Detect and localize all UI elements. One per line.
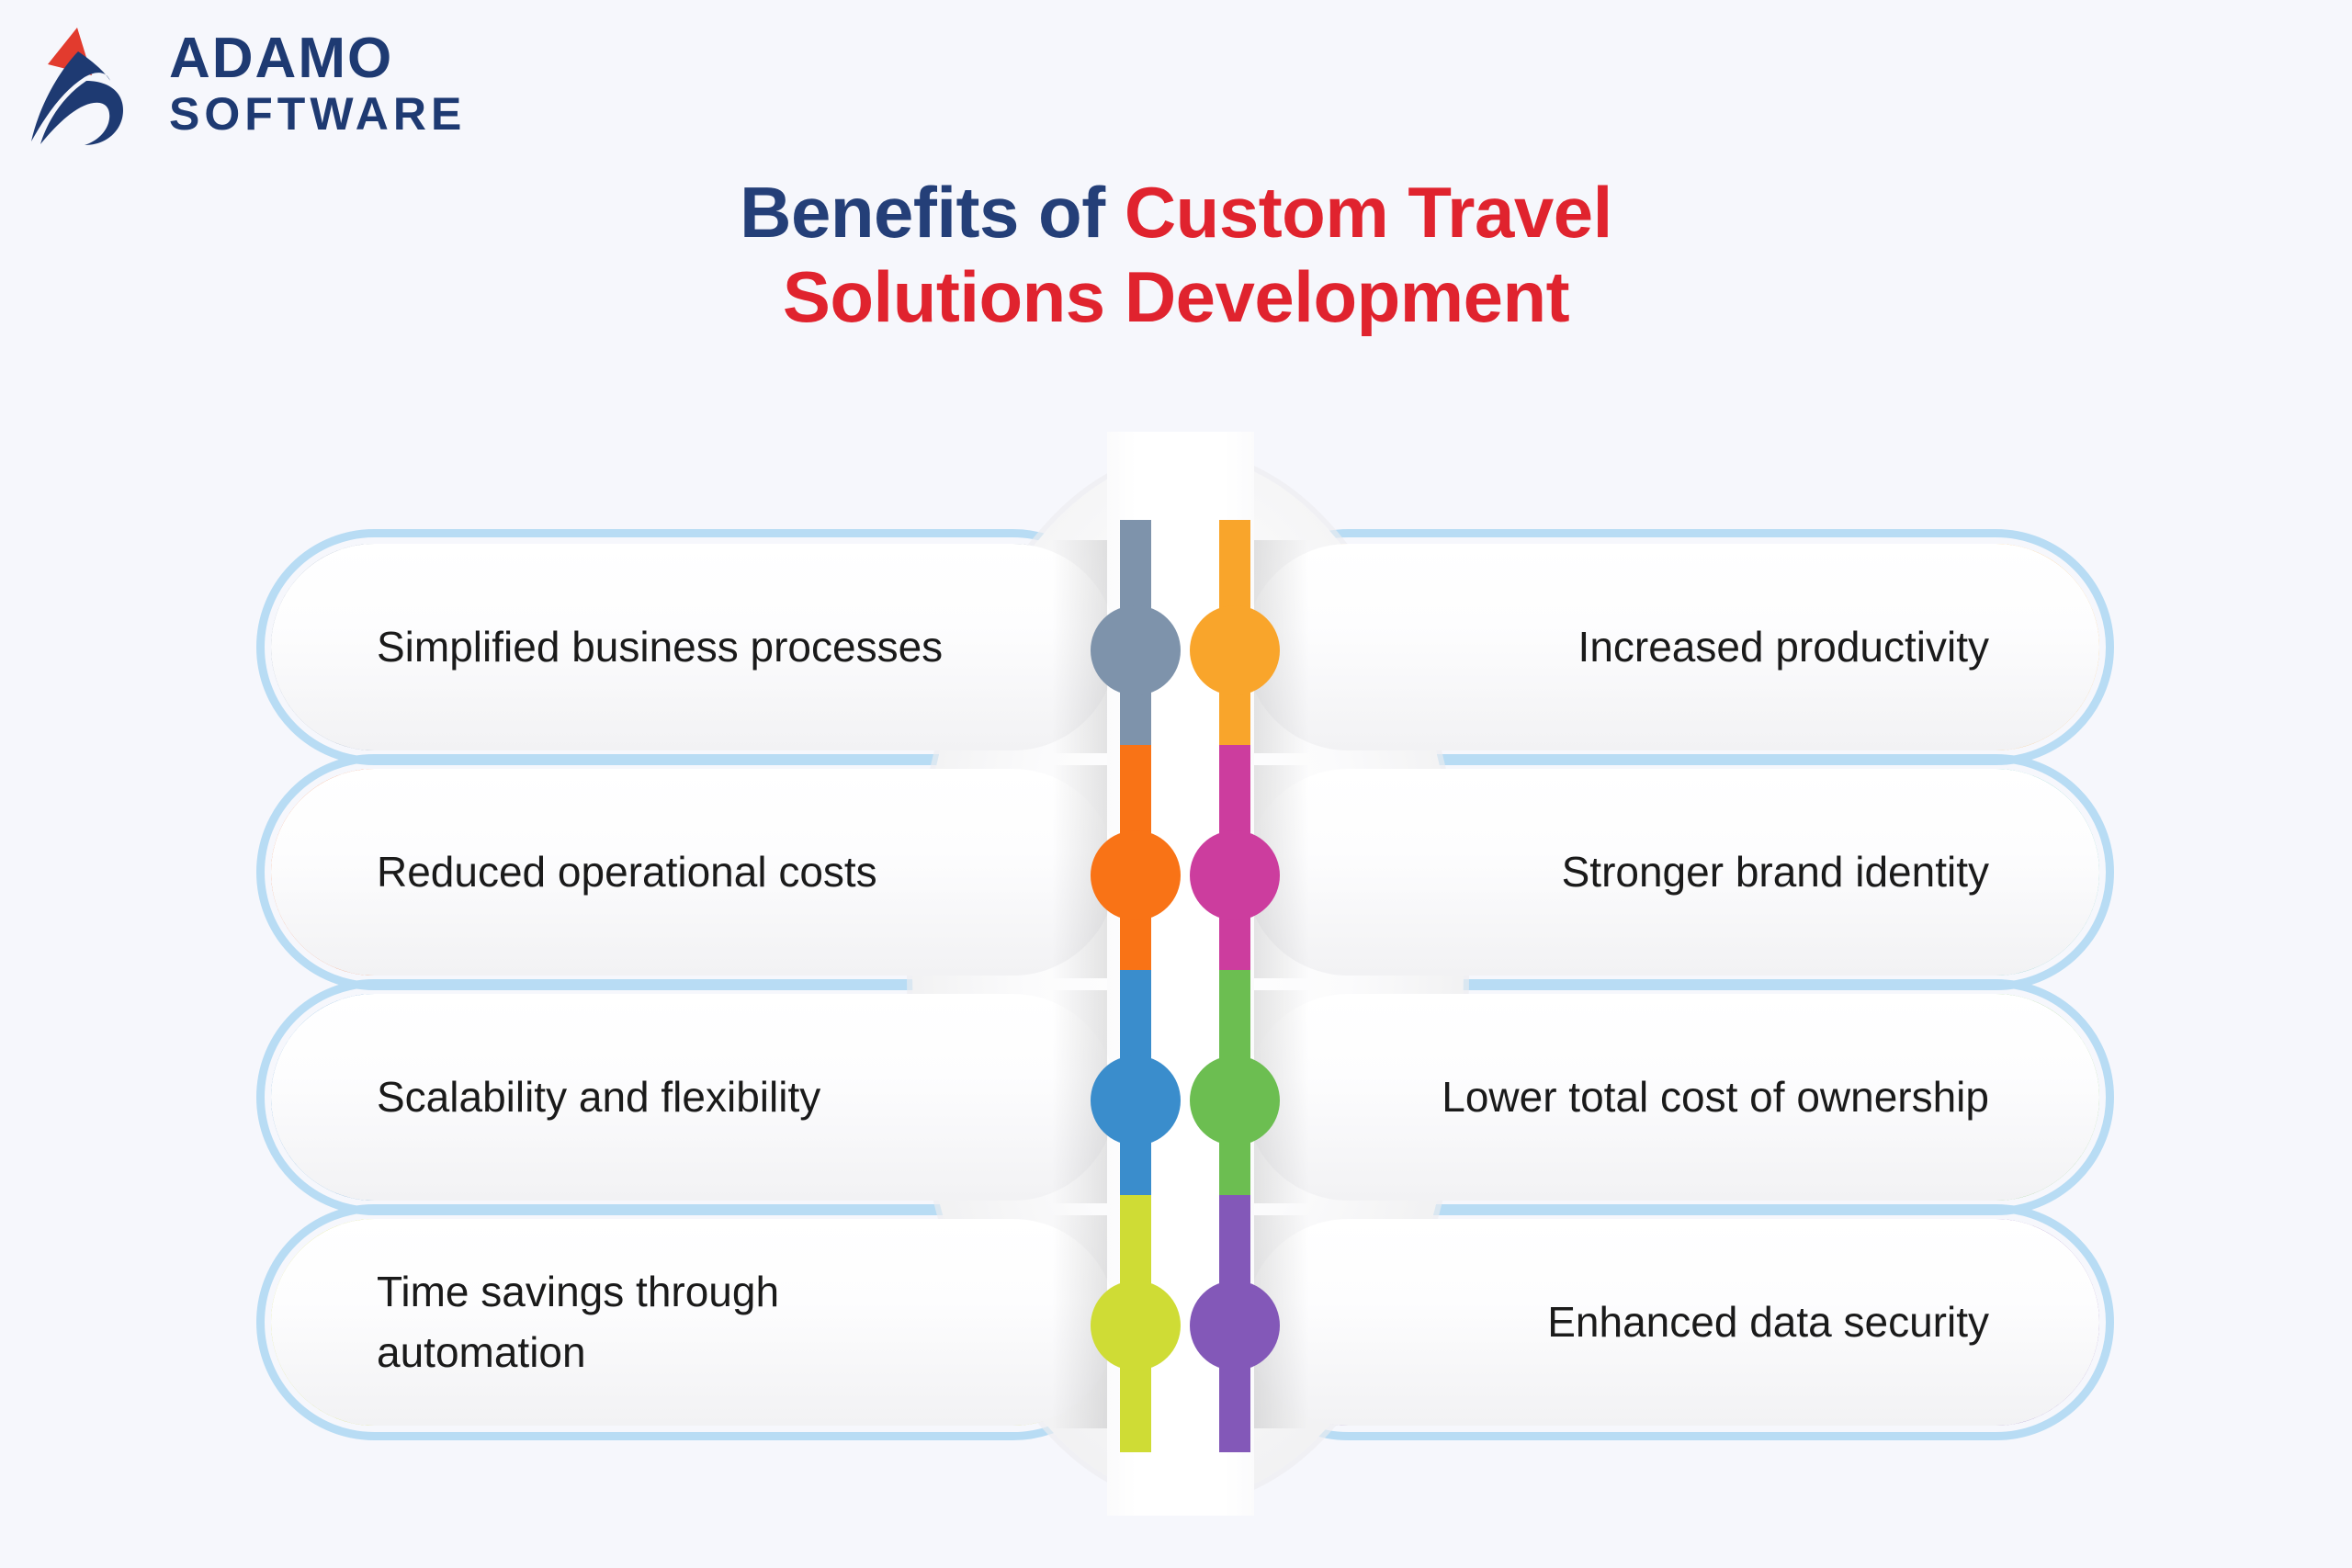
logo-name-top: ADAMO [169, 29, 466, 88]
brand-logo: ADAMO SOFTWARE [20, 17, 535, 150]
benefit-label: Increased productivity [1578, 617, 1989, 677]
benefit-label: Enhanced data security [1547, 1292, 1989, 1352]
benefit-row: Time savings through automationEnhanced … [0, 1215, 2352, 1436]
benefit-card-left[interactable]: Scalability and flexibility [271, 994, 1116, 1201]
connector-node-dot[interactable] [1091, 1055, 1181, 1145]
benefit-card-right[interactable]: Enhanced data security [1245, 1219, 2099, 1426]
title-line-2: Solutions Development [0, 254, 2352, 339]
logo-name-bottom: SOFTWARE [169, 88, 466, 140]
benefit-card-left[interactable]: Time savings through automation [271, 1219, 1116, 1426]
benefit-label: Scalability and flexibility [377, 1067, 820, 1127]
page-title: Benefits of Custom Travel Solutions Deve… [0, 170, 2352, 339]
connector-node-dot[interactable] [1091, 1280, 1181, 1371]
connector-node-dot[interactable] [1091, 830, 1181, 920]
connector-node-dot[interactable] [1091, 605, 1181, 695]
adamo-arrow-logo-icon [20, 20, 149, 149]
benefit-row: Reduced operational costsStronger brand … [0, 765, 2352, 986]
connector-node-dot[interactable] [1190, 1055, 1280, 1145]
benefit-label: Stronger brand identity [1562, 842, 1989, 902]
title-line-1: Benefits of Custom Travel [0, 170, 2352, 254]
title-red-text-2: Solutions Development [783, 256, 1569, 337]
connector-node-dot[interactable] [1190, 1280, 1280, 1371]
title-red-text-1: Custom Travel [1125, 172, 1612, 253]
benefit-card-right[interactable]: Lower total cost of ownership [1245, 994, 2099, 1201]
connector-node-dot[interactable] [1190, 830, 1280, 920]
benefit-card-right[interactable]: Increased productivity [1245, 544, 2099, 750]
benefit-label: Time savings through automation [377, 1262, 988, 1382]
benefit-card-left[interactable]: Reduced operational costs [271, 769, 1116, 976]
benefit-card-right[interactable]: Stronger brand identity [1245, 769, 2099, 976]
benefit-label: Reduced operational costs [377, 842, 877, 902]
connector-node-dot[interactable] [1190, 605, 1280, 695]
benefit-row: Simplified business processesIncreased p… [0, 540, 2352, 761]
benefit-label: Lower total cost of ownership [1442, 1067, 1989, 1127]
title-navy-text: Benefits of [740, 172, 1125, 253]
benefit-row: Scalability and flexibilityLower total c… [0, 990, 2352, 1211]
benefit-label: Simplified business processes [377, 617, 943, 677]
benefit-card-left[interactable]: Simplified business processes [271, 544, 1116, 750]
